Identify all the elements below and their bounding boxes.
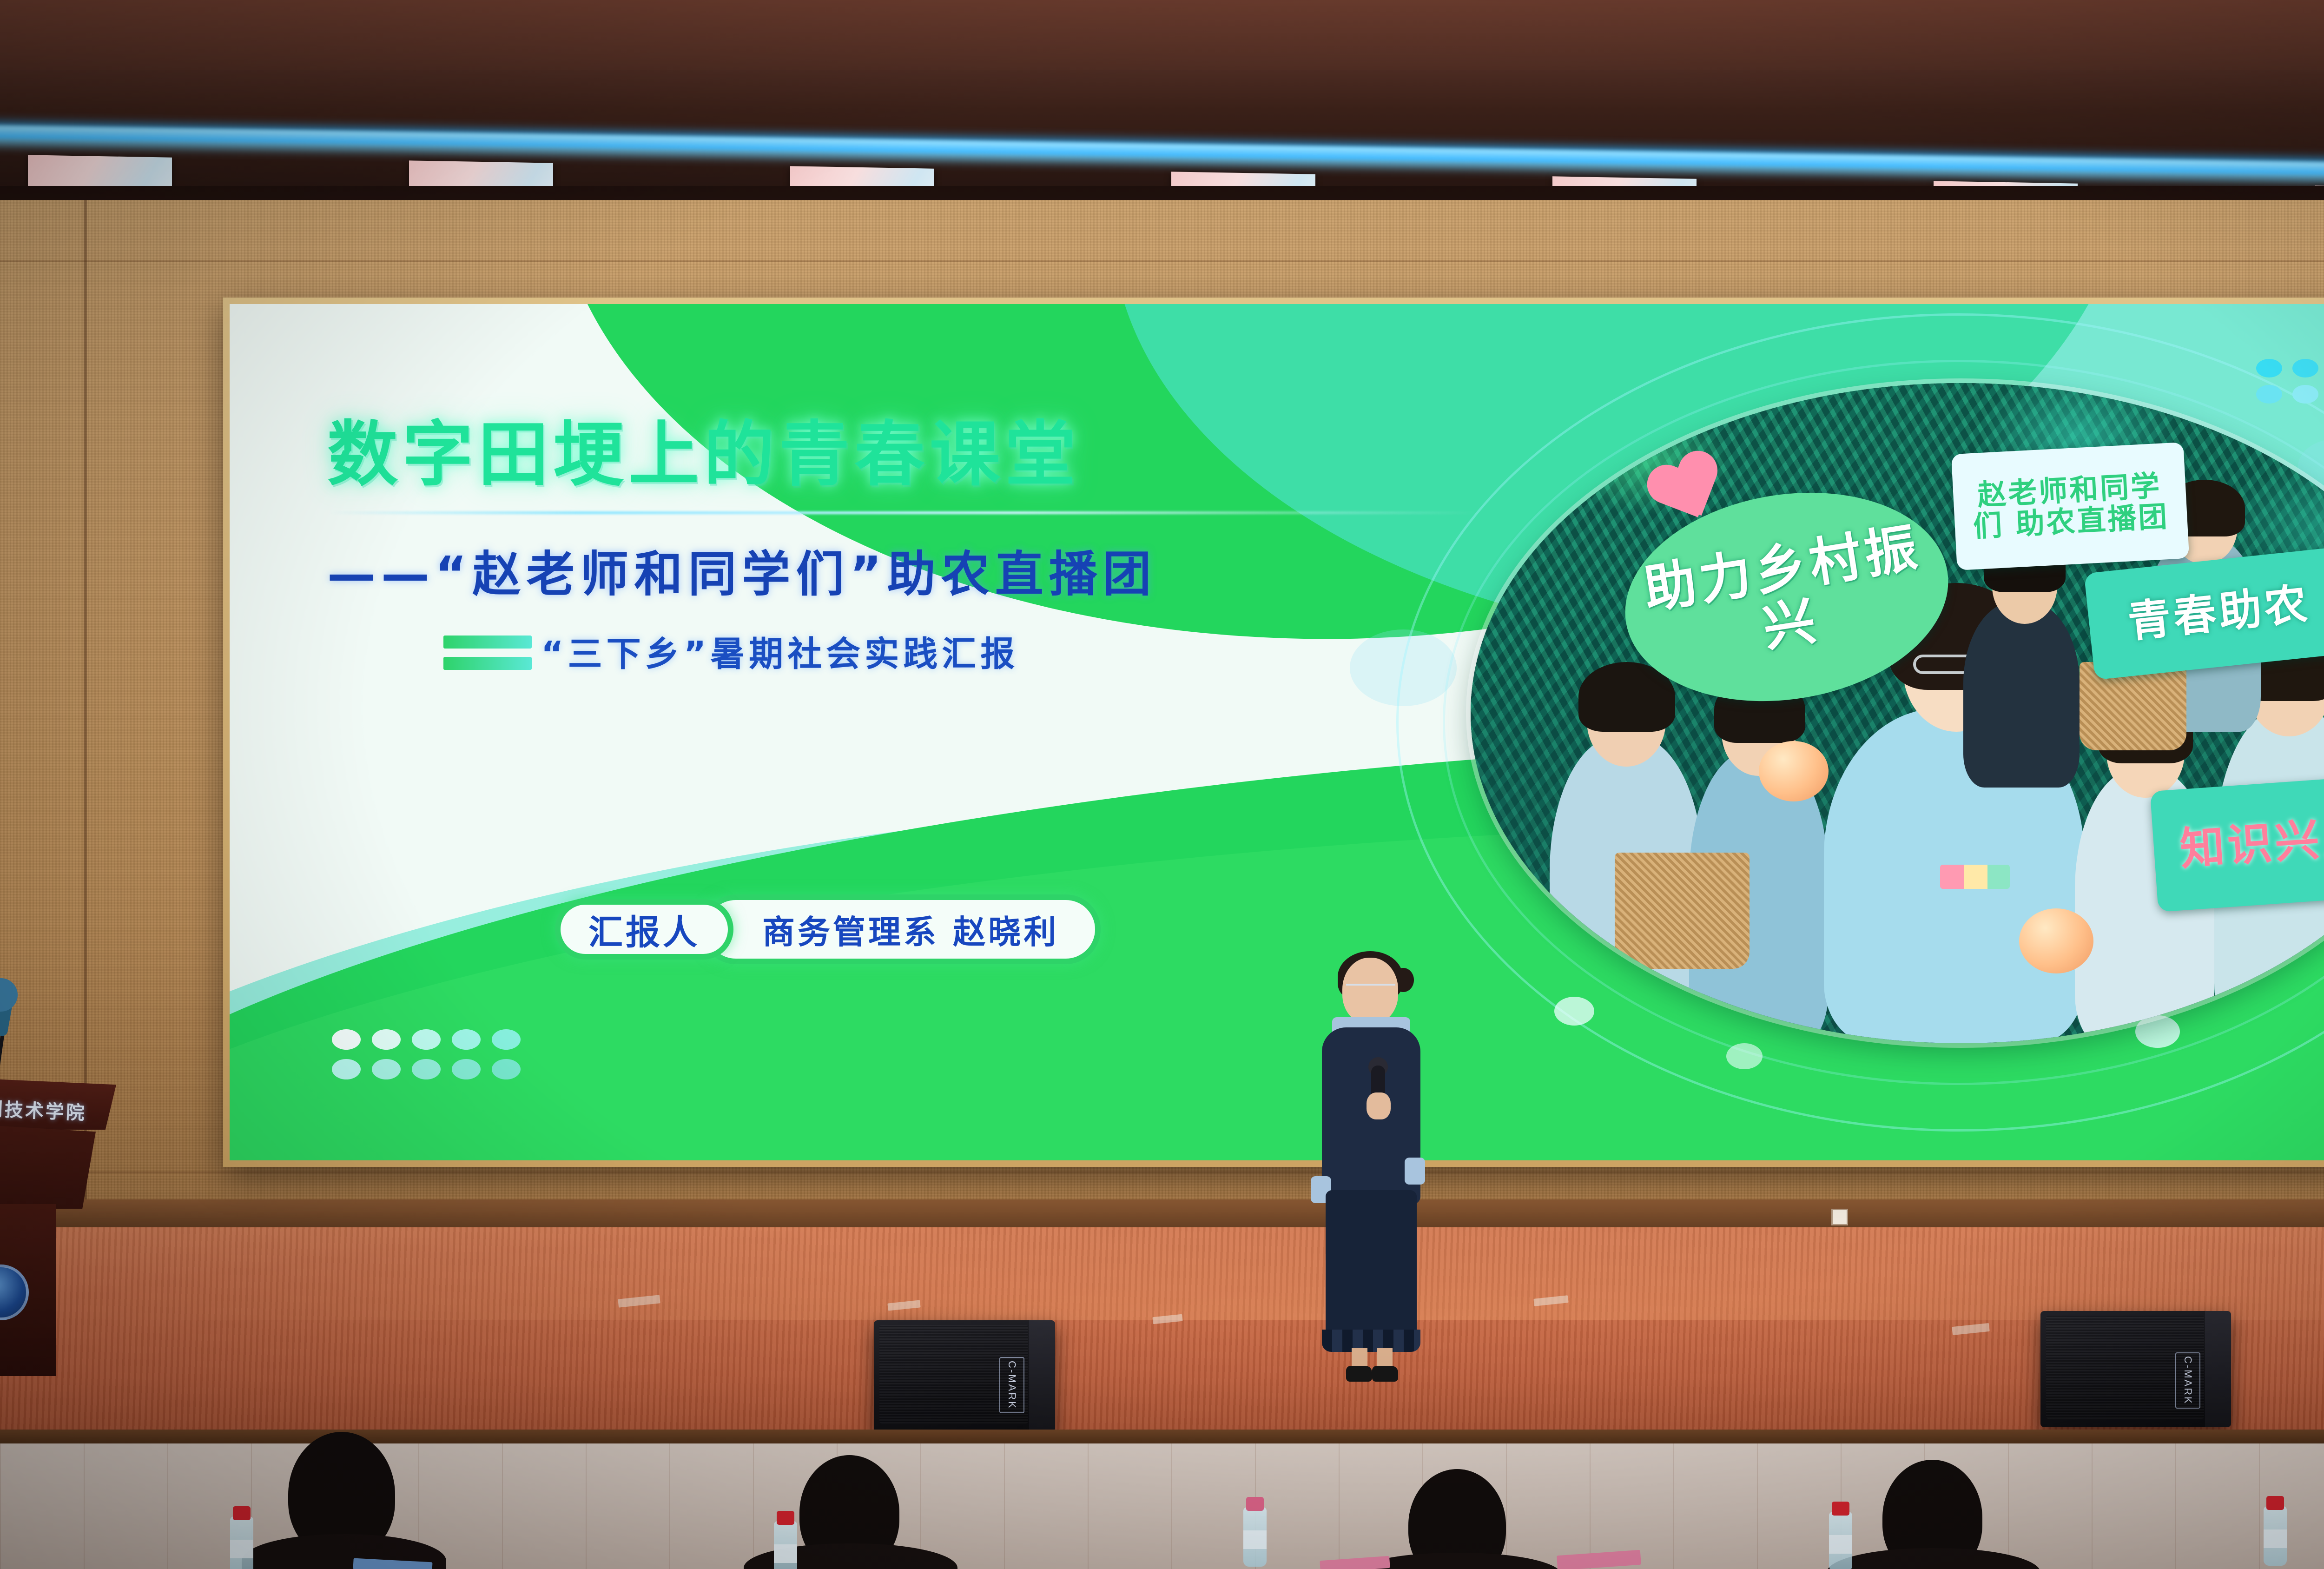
bottle-label — [1829, 1535, 1852, 1554]
decor-dot — [492, 1059, 521, 1079]
projection-screen-frame: 数字田埂上的青春课堂 ——“赵老师和同学们”助农直播团 “三下乡”暑期社会实践汇… — [223, 298, 2324, 1167]
decor-dot — [372, 1029, 401, 1050]
ceiling-top-beam — [0, 0, 2324, 70]
presenter-shoe — [1346, 1366, 1372, 1382]
decor-dot — [2256, 359, 2282, 377]
bottle-cap — [1832, 1502, 1849, 1516]
decor-dot — [332, 1059, 361, 1079]
wall-panel-line — [0, 260, 2324, 262]
slide-tagline-bars — [443, 633, 532, 670]
decor-dot — [332, 1029, 361, 1050]
bottle-cap — [1246, 1497, 1264, 1511]
bottle-label — [1243, 1530, 1267, 1549]
photo-basket — [1615, 853, 1750, 969]
bottle-label — [230, 1540, 253, 1558]
lectern-institution-text: 利技术学院 — [0, 1094, 101, 1125]
slide-text-block: 数字田埂上的青春课堂 ——“赵老师和同学们”助农直播团 “三下乡”暑期社会实践汇… — [327, 397, 1536, 676]
decor-dot — [492, 1029, 521, 1050]
decor-dot — [412, 1029, 441, 1050]
decor-dot — [452, 1059, 481, 1079]
presenter-skirt — [1326, 1190, 1417, 1348]
photo-peach — [2019, 908, 2093, 973]
slide-subtitle-row: ——“赵老师和同学们”助农直播团 — [327, 535, 1536, 605]
auditorium-scene: 数字田埂上的青春课堂 ——“赵老师和同学们”助农直播团 “三下乡”暑期社会实践汇… — [0, 0, 2324, 1569]
presenter-shoe — [1372, 1366, 1398, 1382]
presenter-name-pill: 商务管理系 赵晓利 — [701, 894, 1101, 964]
projection-screen: 数字田埂上的青春课堂 ——“赵老师和同学们”助农直播团 “三下乡”暑期社会实践汇… — [230, 304, 2324, 1160]
bottle-cap — [2266, 1496, 2284, 1510]
photo-sign-knowledge-village: 知识兴乡 — [2150, 775, 2324, 912]
stage-monitor-right: C-MARK — [2040, 1311, 2231, 1427]
decor-dot — [2292, 359, 2318, 377]
slide-title-underline — [327, 511, 1480, 514]
photo-person-body — [1963, 602, 2080, 788]
presenter-credit: 汇报人 商务管理系 赵晓利 — [555, 894, 1101, 964]
slide-dot-grid-bottom-left — [332, 1029, 521, 1079]
presenter-skirt-ruffle — [1322, 1330, 1420, 1352]
bottle-cap — [233, 1506, 251, 1520]
slide-tagline: “三下乡”暑期社会实践汇报 — [541, 626, 1019, 676]
slide-node-dot — [1726, 1043, 1763, 1069]
slide-subtitle: ——“赵老师和同学们”助农直播团 — [327, 535, 1157, 605]
slide-title: 数字田埂上的青春课堂 — [327, 397, 1536, 499]
presenter-cuff-right — [1405, 1158, 1425, 1185]
monitor-brand-label: C-MARK — [2175, 1352, 2200, 1409]
photo-peach — [1759, 741, 1829, 801]
wall-seam-left — [84, 200, 87, 1227]
tagline-bar — [443, 636, 532, 649]
presenter-role-pill: 汇报人 — [555, 899, 733, 960]
stage-floor-light — [0, 1227, 2324, 1320]
decor-dot — [412, 1059, 441, 1079]
photo-lead-badge — [1940, 865, 2010, 889]
slide-team-photo: 助力乡村振兴 赵老师和同学们 助农直播团 青春助农 知识兴乡 — [1471, 383, 2324, 1043]
monitor-side-panel — [2205, 1311, 2231, 1427]
presenter-on-stage — [1301, 958, 1441, 1376]
lectern-body — [0, 1125, 96, 1209]
stage-monitor-left: C-MARK — [874, 1320, 1055, 1432]
wall-sensor — [1831, 1209, 1848, 1225]
decor-dot — [452, 1029, 481, 1050]
bottle-label — [2264, 1529, 2287, 1548]
tagline-bar — [443, 657, 532, 670]
bottle-cap — [777, 1511, 794, 1525]
monitor-brand-label: C-MARK — [999, 1357, 1024, 1413]
decor-dot — [372, 1059, 401, 1079]
photo-sign-team-name: 赵老师和同学们 助农直播团 — [1951, 442, 2189, 570]
monitor-side-panel — [1029, 1320, 1055, 1432]
wall-panel-line — [0, 1172, 2324, 1173]
lectern: 利技术学院 — [0, 1079, 135, 1376]
bottle-label — [774, 1544, 797, 1563]
presenter-glasses — [1346, 984, 1395, 994]
slide-tagline-row: “三下乡”暑期社会实践汇报 — [443, 626, 1536, 676]
presenter-hand — [1367, 1092, 1391, 1119]
